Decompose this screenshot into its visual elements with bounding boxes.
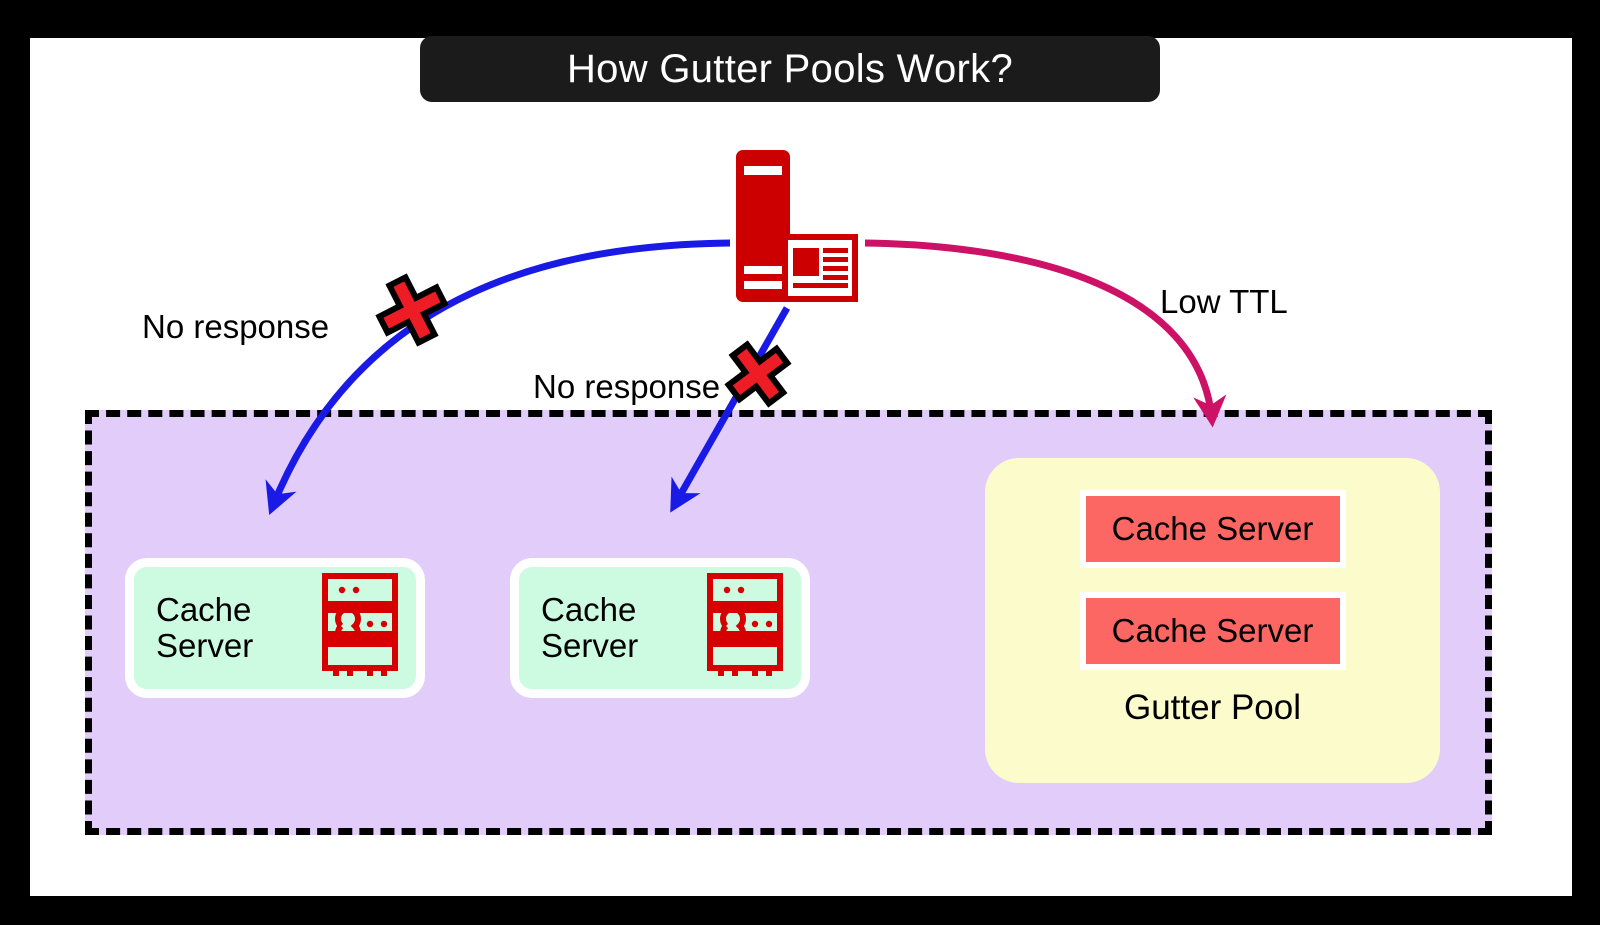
- diagram-canvas: How Gutter Pools Work?: [30, 38, 1572, 896]
- cache-server-card-1[interactable]: Cache Server: [125, 558, 425, 698]
- page-title: How Gutter Pools Work?: [567, 47, 1013, 92]
- gutter-pool-group[interactable]: Cache Server Cache Server Gutter Pool: [985, 458, 1440, 783]
- outer-frame: How Gutter Pools Work?: [0, 0, 1600, 925]
- edge-label-low-ttl: Low TTL: [1160, 283, 1288, 321]
- x-mark-1: [355, 253, 469, 367]
- cache-server-card-2[interactable]: Cache Server: [510, 558, 810, 698]
- server-tower-icon: [730, 150, 860, 305]
- edge-label-no-response-2: No response: [533, 368, 720, 406]
- x-mark-2: [710, 326, 806, 422]
- cache-server-card-1-label: Cache Server: [156, 592, 253, 663]
- diagram-title-bar: How Gutter Pools Work?: [420, 36, 1160, 102]
- edge-low-ttl-line: [865, 243, 1212, 420]
- gutter-pool-label: Gutter Pool: [1124, 688, 1301, 728]
- cache-server-card-2-label: Cache Server: [541, 592, 638, 663]
- server-rack-link-icon: [691, 572, 787, 685]
- gutter-pool-server-1[interactable]: Cache Server: [1080, 490, 1346, 568]
- server-rack-link-icon: [306, 572, 402, 685]
- gutter-pool-server-2[interactable]: Cache Server: [1080, 592, 1346, 670]
- edge-label-no-response-1: No response: [142, 308, 329, 346]
